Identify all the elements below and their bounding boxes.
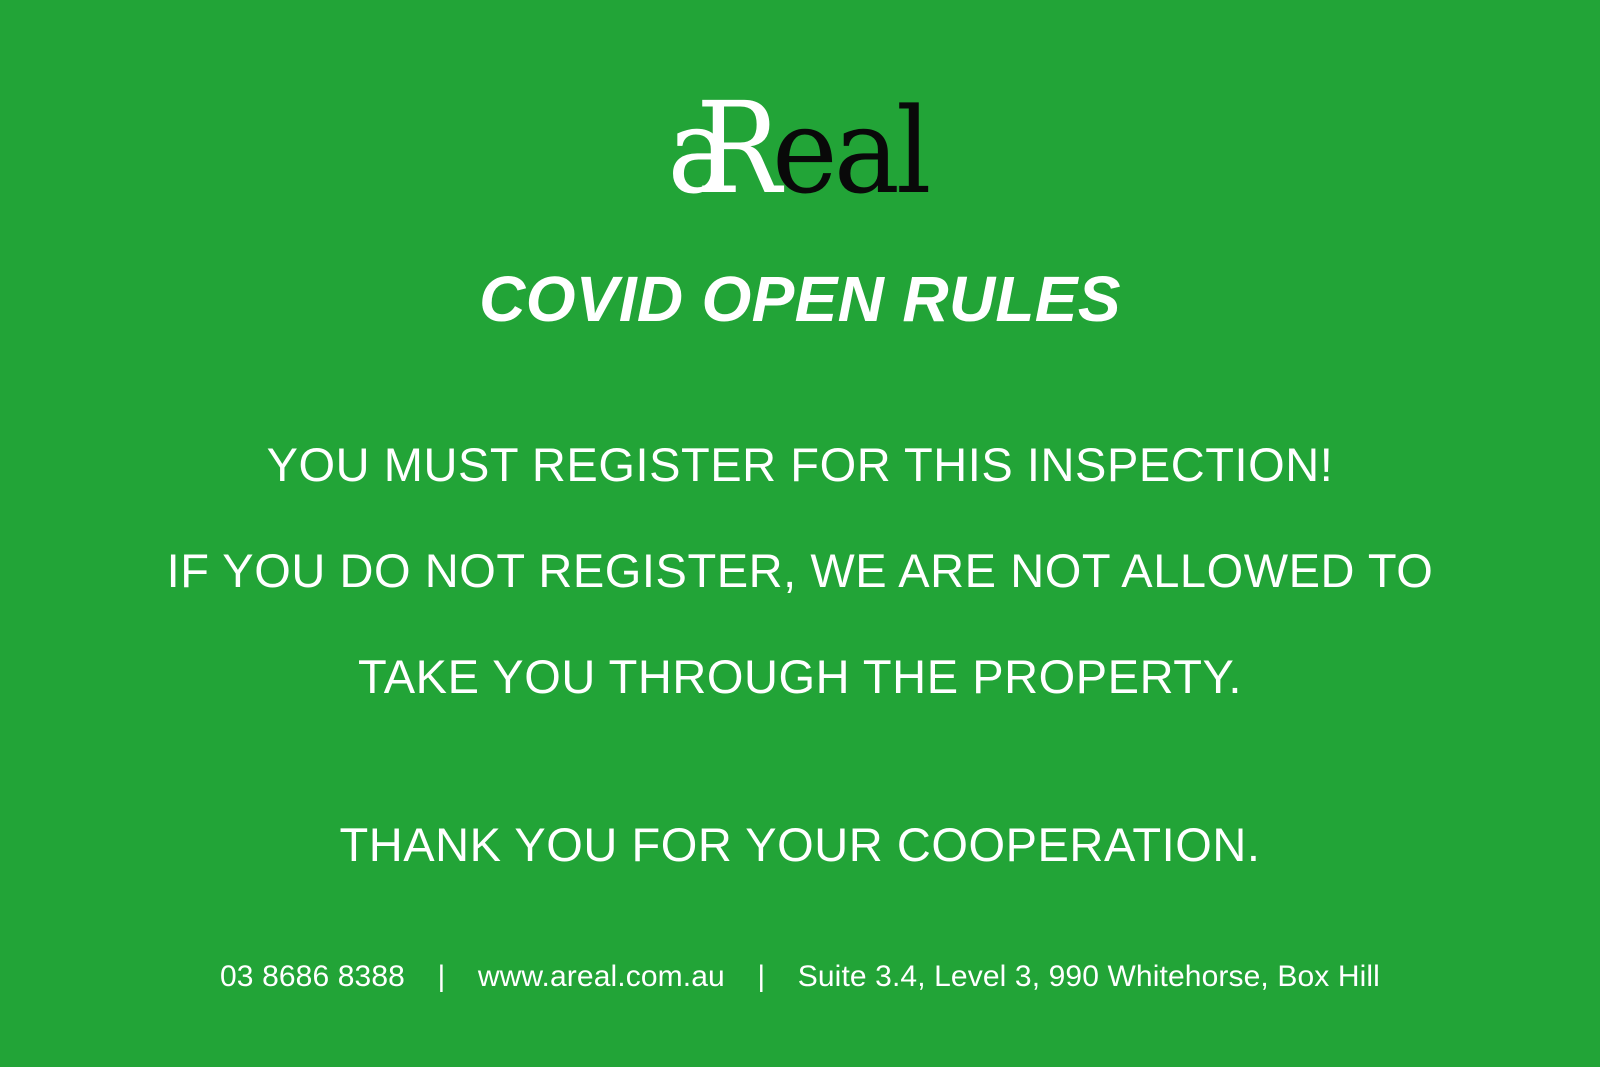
body-line-2: IF YOU DO NOT REGISTER, WE ARE NOT ALLOW…: [0, 518, 1600, 624]
body-paragraph-spacer: [0, 730, 1600, 792]
footer-phone: 03 8686 8388: [220, 960, 405, 994]
footer-separator-1: |: [413, 960, 469, 994]
contact-footer: 03 8686 8388 | www.areal.com.au | Suite …: [0, 960, 1600, 994]
body-text-block: YOU MUST REGISTER FOR THIS INSPECTION! I…: [0, 412, 1600, 898]
page-title: COVID OPEN RULES: [0, 266, 1600, 333]
areal-logo-wordmark: aReal: [663, 86, 938, 212]
body-line-1: YOU MUST REGISTER FOR THIS INSPECTION!: [0, 412, 1600, 518]
logo-letters-eal: eal: [772, 92, 928, 210]
footer-address: Suite 3.4, Level 3, 990 Whitehorse, Box …: [798, 960, 1380, 994]
footer-separator-2: |: [733, 960, 789, 994]
logo-letter-a: a: [667, 92, 721, 210]
body-line-3: TAKE YOU THROUGH THE PROPERTY.: [0, 624, 1600, 730]
covid-open-rules-poster: aReal COVID OPEN RULES YOU MUST REGISTER…: [0, 0, 1600, 1067]
body-closing-line: THANK YOU FOR YOUR COOPERATION.: [0, 792, 1600, 898]
areal-logo: aReal: [0, 62, 1600, 212]
footer-website[interactable]: www.areal.com.au: [478, 960, 725, 994]
